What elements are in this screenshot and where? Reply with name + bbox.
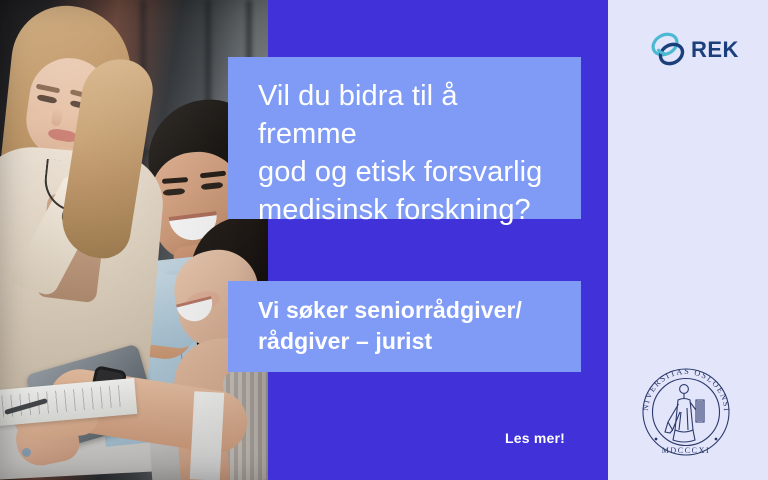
rek-logo: REK <box>650 28 742 72</box>
headline-line-1: Vil du bidra til å fremme <box>258 77 555 153</box>
uio-seal: UNIVERSITAS OSLOENSIS MDCCCXI <box>634 360 738 464</box>
uio-seal-icon: UNIVERSITAS OSLOENSIS MDCCCXI <box>634 360 738 464</box>
job-title-line-1: Vi søker seniorrådgiver/ <box>258 295 555 326</box>
job-title-line-2: rådgiver – jurist <box>258 326 555 357</box>
rek-interlocking-rings-icon <box>650 30 690 70</box>
job-title-callout-box: Vi søker seniorrådgiver/ rådgiver – juri… <box>228 281 581 372</box>
headline-line-3: medisinsk forskning? <box>258 191 555 229</box>
job-advert-banner: Vil du bidra til å fremme god og etisk f… <box>0 0 768 480</box>
headline-line-2: god og etisk forsvarlig <box>258 153 555 191</box>
read-more-link[interactable]: Les mer! <box>505 430 565 446</box>
headline-callout-box: Vil du bidra til å fremme god og etisk f… <box>228 57 581 219</box>
uio-seal-year: MDCCCXI <box>662 446 711 455</box>
rek-wordmark: REK <box>691 39 739 61</box>
